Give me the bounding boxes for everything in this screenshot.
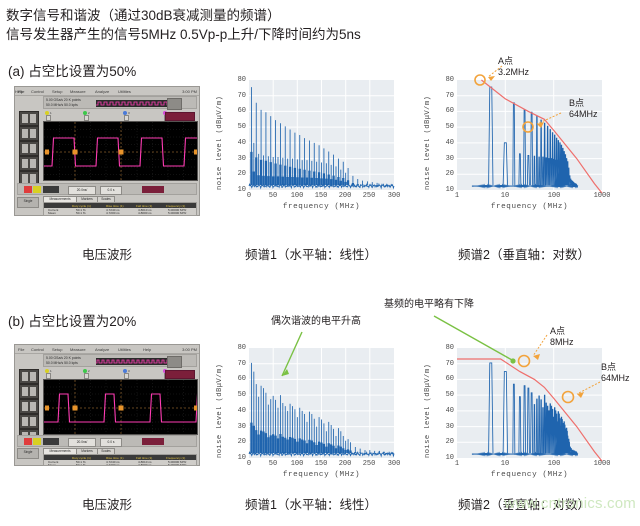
cell-label: Mean bbox=[48, 463, 56, 466]
cell-fall: 4.8000 ns bbox=[138, 463, 152, 466]
marker-b-circle-top bbox=[523, 122, 533, 132]
title-line-1: 数字信号和谐波（通过30dB衰减测量的频谱） bbox=[6, 6, 636, 25]
annotation-layer-b1 bbox=[216, 318, 406, 428]
scope-menu-bar-b[interactable]: File Control Setup Measure Analyze Utili… bbox=[15, 345, 199, 354]
scope-clock: 3:00 PM bbox=[182, 89, 197, 94]
scope-single-button[interactable]: Single bbox=[17, 197, 39, 208]
ytick-70: 70 bbox=[230, 92, 246, 100]
chart-spectrum2-a: noise level (dBμV/m) 80 70 60 50 40 30 2… bbox=[424, 72, 634, 222]
arrow-b-line-top bbox=[537, 113, 561, 124]
scope-menu-measure[interactable]: Measure bbox=[70, 89, 86, 94]
arrow-a-head-top bbox=[488, 76, 495, 81]
caption-spectrum1-a: 频谱1（水平轴：线性） bbox=[216, 244, 406, 263]
scope-left-toolbar[interactable] bbox=[17, 111, 41, 173]
overview-zigzag-icon-b bbox=[96, 358, 174, 365]
scope-menu-utilities[interactable]: Utilities bbox=[118, 347, 131, 352]
scope-ctrl-field-1[interactable] bbox=[43, 438, 59, 445]
scope-ctrl-swatch-2[interactable] bbox=[33, 186, 41, 193]
xtick-250: 250 bbox=[362, 460, 376, 468]
scope-menu-control[interactable]: Control bbox=[31, 89, 44, 94]
scope-waveform-svg-b bbox=[44, 380, 198, 435]
scope-col-rise: Rise time (1) bbox=[106, 204, 124, 208]
scope-channel-3-label: 3 bbox=[128, 369, 130, 373]
scope-offset-field-b[interactable]: 0.0 s bbox=[100, 438, 122, 447]
scope-tool-3[interactable] bbox=[19, 399, 39, 414]
scope-waveform-display-a bbox=[43, 121, 198, 181]
scope-channel-1-label: 1 bbox=[50, 111, 52, 115]
scope-tool-1[interactable] bbox=[19, 369, 39, 384]
chart-spectrum1-b: noise level (dBμV/m) 80 70 60 50 40 30 2… bbox=[216, 340, 406, 490]
ytick-80: 80 bbox=[230, 76, 246, 84]
ylabel-spectrum1-a: noise level (dBμV/m) bbox=[216, 90, 224, 190]
scope-menu-analyze[interactable]: Analyze bbox=[95, 347, 109, 352]
scope-menu-control[interactable]: Control bbox=[31, 347, 44, 352]
scope-col-freq: Frequency (1) bbox=[166, 204, 185, 208]
figure-title: 数字信号和谐波（通过30dB衰减测量的频谱） 信号发生器产生的信号5MHz 0.… bbox=[6, 6, 636, 44]
ytick-20: 20 bbox=[230, 170, 246, 178]
annot-a-value-bot: 8MHz bbox=[550, 337, 574, 348]
scope-waveform-display-b bbox=[43, 379, 198, 435]
cell-duty: 49.9 % bbox=[76, 214, 86, 216]
chart-spectrum2-b: noise level (dBμV/m) 80 70 60 50 40 30 2… bbox=[424, 340, 634, 490]
marker-b-circle-bot bbox=[563, 392, 574, 403]
cell-duty: 50.1 % bbox=[76, 463, 86, 466]
annotation-layer-a bbox=[424, 58, 634, 208]
scope-col-freq: Frequency (1) bbox=[166, 456, 185, 460]
arrow-b-line-bot bbox=[577, 382, 600, 394]
scope-menu-help[interactable]: Help bbox=[143, 347, 151, 352]
overview-zigzag-icon bbox=[96, 100, 174, 107]
scope-offset-field[interactable]: 0.0 s bbox=[100, 186, 122, 195]
scope-ctrl-field-1[interactable] bbox=[43, 186, 59, 193]
scope-waveform-svg-a bbox=[44, 122, 198, 181]
scope-menu-bar[interactable]: File Control Setup Measure Analyze Utili… bbox=[15, 87, 199, 96]
scope-triglevel-field-b[interactable] bbox=[142, 438, 164, 445]
annotation-layer-b2 bbox=[384, 302, 634, 462]
annot-a-value-top: 3.2MHz bbox=[498, 67, 529, 78]
xtick-50: 50 bbox=[266, 460, 280, 468]
arrow-a-line-bot bbox=[533, 335, 547, 356]
scope-menu-setup[interactable]: Setup bbox=[52, 89, 62, 94]
scope-left-toolbar-b[interactable] bbox=[17, 369, 41, 423]
scope-table-row: Mean 50.1 % 4.7200 ns 4.8000 ns 5.00000 … bbox=[44, 463, 196, 466]
ytick-50: 50 bbox=[230, 123, 246, 131]
cell-fall: 4.7800 ns bbox=[138, 214, 152, 216]
scope-tool-2[interactable] bbox=[19, 384, 39, 399]
title-line-2: 信号发生器产生的信号5MHz 0.5Vp-p上升/下降时间约为5ns bbox=[6, 25, 636, 44]
annot-even-harmonics: 偶次谐波的电平升高 bbox=[271, 312, 361, 327]
marker-a-circle-top bbox=[475, 75, 485, 85]
ytick-60: 60 bbox=[230, 107, 246, 115]
marker-a-circle-bot bbox=[519, 356, 530, 367]
scope-info-line1-b: 5.00 GSa/s 20 K points bbox=[46, 356, 81, 360]
xtick-250: 250 bbox=[362, 192, 376, 200]
annot-a-title-top: A点 bbox=[498, 56, 513, 67]
plot-area-spectrum1-a bbox=[249, 80, 394, 190]
scope-trigger-indicator[interactable] bbox=[165, 112, 195, 121]
scope-col-rise: Rise time (1) bbox=[106, 456, 124, 460]
watermark: www.cntronics.com bbox=[504, 495, 636, 512]
scope-tool-4[interactable] bbox=[19, 156, 39, 171]
ytick-40: 40 bbox=[230, 139, 246, 147]
cell-freq: 5.00000 MHz bbox=[168, 214, 186, 216]
ytick-30: 30 bbox=[230, 155, 246, 163]
spectrum1-a-svg bbox=[249, 80, 394, 190]
arrow-b-head-bot bbox=[577, 392, 584, 398]
xtick-0: 0 bbox=[242, 460, 256, 468]
scope-col-duty: Duty cycle (1) bbox=[72, 204, 91, 208]
scope-tool-1[interactable] bbox=[19, 111, 39, 126]
scope-col-fall: Fall time (1) bbox=[136, 204, 152, 208]
scope-info-line2-b: 50.0 MHz/s 50.0 kpts bbox=[46, 361, 78, 365]
annot-fundamental-drop: 基频的电平略有下降 bbox=[384, 295, 474, 310]
scope-menu-setup[interactable]: Setup bbox=[52, 347, 62, 352]
oscilloscope-screenshot-b: File Control Setup Measure Analyze Utili… bbox=[14, 344, 200, 466]
section-label-a: (a) 占空比设置为50% bbox=[8, 60, 136, 80]
section-label-b: (b) 占空比设置为20% bbox=[8, 310, 136, 330]
xtick-0: 0 bbox=[242, 192, 256, 200]
scope-tool-2[interactable] bbox=[19, 126, 39, 141]
oscilloscope-screenshot-a: File Control Setup Measure Analyze Utili… bbox=[14, 86, 200, 216]
scope-waveform-overview-b bbox=[96, 358, 174, 365]
scope-trigger-indicator-b[interactable] bbox=[165, 370, 195, 379]
scope-control-bar[interactable]: 20.0ns/ 0.0 s bbox=[17, 183, 197, 195]
green-arrow-line-b1 bbox=[282, 332, 302, 376]
xlabel-spectrum2-b: frequency (MHz) bbox=[457, 471, 602, 479]
xtick-150: 150 bbox=[314, 460, 328, 468]
scope-info-line2: 50.0 MHz/s 50.0 kpts bbox=[46, 103, 78, 107]
xtick-100: 100 bbox=[290, 460, 304, 468]
green-arrow-line-b2 bbox=[434, 316, 512, 360]
caption-spectrum1-b: 频谱1（水平轴：线性） bbox=[216, 494, 406, 513]
figure-root: 数字信号和谐波（通过30dB衰减测量的频谱） 信号发生器产生的信号5MHz 0.… bbox=[0, 0, 640, 526]
cell-freq: 5.00000 MHz bbox=[168, 463, 186, 466]
annot-a-title-bot: A点 bbox=[550, 326, 565, 337]
scope-channel-bar: 1 2 3 4 bbox=[43, 111, 197, 120]
xlabel-spectrum1-b: frequency (MHz) bbox=[249, 471, 394, 479]
scope-measurement-table-b: Duty cycle (1) Rise time (1) Fall time (… bbox=[43, 454, 197, 466]
scope-waveform-overview bbox=[96, 100, 174, 107]
scope-ctrl-swatch-2[interactable] bbox=[33, 438, 41, 445]
scope-tool-4[interactable] bbox=[19, 414, 39, 429]
scope-info-badge-b[interactable] bbox=[167, 356, 182, 368]
scope-tool-3[interactable] bbox=[19, 141, 39, 156]
scope-channel-2-label: 2 bbox=[88, 369, 90, 373]
scope-control-bar-b[interactable]: 20.0ns/ 0.0 s bbox=[17, 435, 197, 447]
xtick-150: 150 bbox=[314, 192, 328, 200]
xlabel-spectrum1-a: frequency (MHz) bbox=[249, 203, 394, 211]
scope-menu-file[interactable]: File bbox=[18, 347, 24, 352]
scope-info-panel: 5.00 GSa/s 20 K points 50.0 MHz/s 50.0 k… bbox=[43, 96, 197, 109]
scope-triglevel-field[interactable] bbox=[142, 186, 164, 193]
caption-waveform-b: 电压波形 bbox=[14, 494, 200, 513]
annot-b-title-bot: B点 bbox=[601, 362, 616, 373]
xtick-200: 200 bbox=[338, 460, 352, 468]
scope-table-row: Min 49.9 % 4.6900 ns 4.7800 ns 5.00000 M… bbox=[44, 214, 196, 216]
scope-timebase-field[interactable]: 20.0ns/ bbox=[68, 186, 96, 195]
scope-col-duty: Duty cycle (1) bbox=[72, 456, 91, 460]
scope-menu-utilities[interactable]: Utilities bbox=[118, 89, 131, 94]
cell-label: Min bbox=[48, 214, 53, 216]
scope-channel-1-label: 1 bbox=[50, 369, 52, 373]
scope-info-line1: 5.00 GSa/s 20 K points bbox=[46, 98, 81, 102]
caption-waveform-a: 电压波形 bbox=[14, 244, 200, 263]
cell-rise: 4.7200 ns bbox=[106, 463, 120, 466]
annot-b-value-bot: 64MHz bbox=[601, 373, 630, 384]
scope-ctrl-swatch-1[interactable] bbox=[24, 438, 32, 445]
green-arrow-head-b2 bbox=[510, 358, 515, 363]
scope-single-button-b[interactable]: Single bbox=[17, 448, 39, 459]
scope-clock-b: 3:00 PM bbox=[182, 347, 197, 352]
scope-col-fall: Fall time (1) bbox=[136, 456, 152, 460]
scope-measurement-table-a: Duty cycle (1) Rise time (1) Fall time (… bbox=[43, 202, 197, 216]
xtick-300: 300 bbox=[386, 192, 402, 200]
scope-info-badge[interactable] bbox=[167, 98, 182, 110]
scope-timebase-field-b[interactable]: 20.0ns/ bbox=[68, 438, 96, 447]
cell-rise: 4.6900 ns bbox=[106, 214, 120, 216]
annot-b-title-top: B点 bbox=[569, 98, 584, 109]
chart-spectrum1-a: noise level (dBμV/m) 80 70 60 50 40 30 2… bbox=[216, 72, 406, 222]
xtick-100: 100 bbox=[290, 192, 304, 200]
scope-menu-analyze[interactable]: Analyze bbox=[95, 89, 109, 94]
arrow-a-head-bot bbox=[533, 354, 540, 360]
scope-menu-help[interactable]: Help bbox=[15, 89, 23, 94]
scope-channel-2-label: 2 bbox=[88, 111, 90, 115]
scope-info-panel-b: 5.00 GSa/s 20 K points 50.0 MHz/s 50.0 k… bbox=[43, 354, 197, 367]
annot-b-value-top: 64MHz bbox=[569, 109, 598, 120]
scope-menu-measure[interactable]: Measure bbox=[70, 347, 86, 352]
caption-spectrum2-a: 频谱2（垂直轴：对数） bbox=[424, 244, 624, 263]
xtick-200: 200 bbox=[338, 192, 352, 200]
scope-channel-3-label: 3 bbox=[128, 111, 130, 115]
scope-ctrl-swatch-1[interactable] bbox=[24, 186, 32, 193]
ytick-20: 20 bbox=[230, 438, 246, 446]
scope-channel-bar-b: 1 2 3 4 bbox=[43, 369, 197, 378]
xtick-50: 50 bbox=[266, 192, 280, 200]
